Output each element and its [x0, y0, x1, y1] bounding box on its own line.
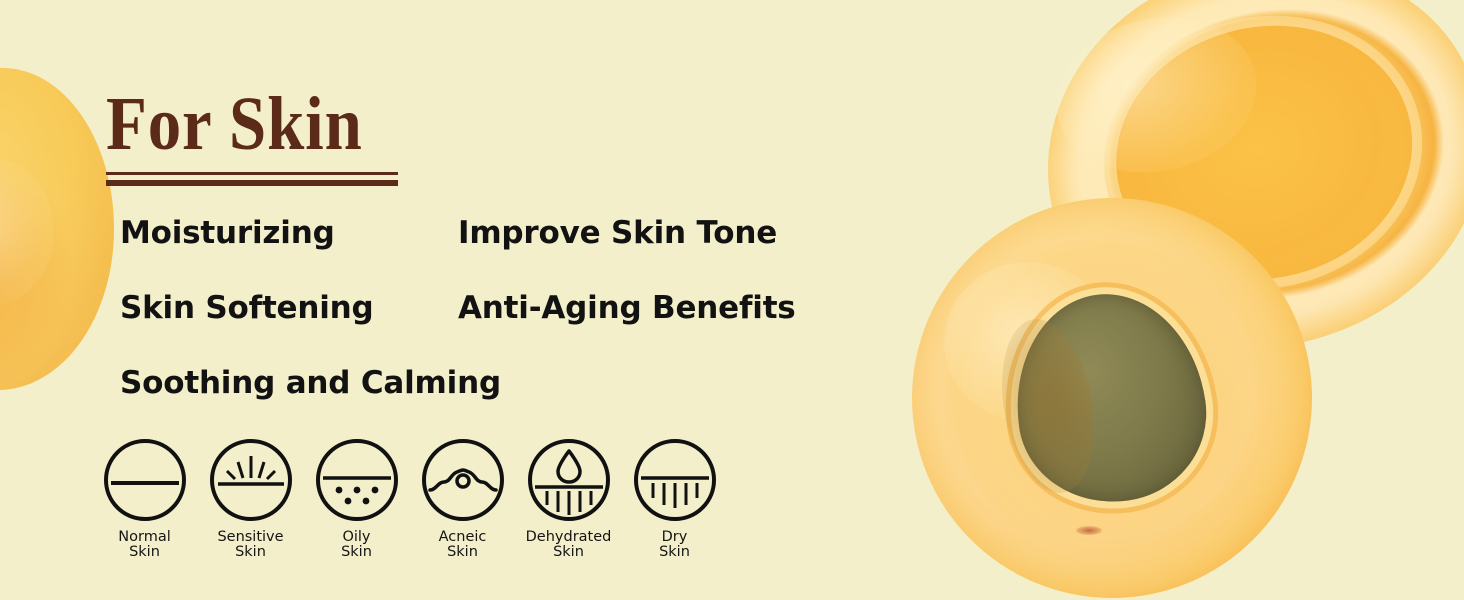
skin-type-normal: NormalSkin: [98, 438, 191, 560]
title-block: For Skin: [106, 86, 398, 186]
apricot-stem-mark: [1076, 526, 1102, 535]
benefit-row: Moisturizing Improve Skin Tone: [120, 215, 820, 290]
skin-type-label-line2: Skin: [447, 544, 478, 560]
title-underline: [106, 172, 398, 186]
benefit-row: Skin Softening Anti-Aging Benefits: [120, 290, 820, 365]
dry-skin-icon: [633, 438, 717, 522]
page-title: For Skin: [106, 86, 363, 162]
skin-type-label-line1: Acneic: [439, 529, 487, 545]
benefit-improve-skin-tone: Improve Skin Tone: [458, 215, 777, 251]
skin-type-label-line2: Skin: [129, 544, 160, 560]
skin-type-sensitive: SensitiveSkin: [204, 438, 297, 560]
benefit-soothing-and-calming: Soothing and Calming: [120, 365, 501, 401]
skin-type-label-line1: Sensitive: [217, 529, 283, 545]
title-underline-thick: [106, 180, 398, 186]
skin-type-acneic: AcneicSkin: [416, 438, 509, 560]
skin-type-label-line1: Normal: [118, 529, 170, 545]
apricot-flesh-highlight: [944, 262, 1112, 422]
skin-type-label-line2: Skin: [659, 544, 690, 560]
benefit-anti-aging-benefits: Anti-Aging Benefits: [458, 290, 796, 326]
benefit-skin-softening: Skin Softening: [120, 290, 458, 326]
title-underline-thin: [106, 172, 398, 175]
skin-type-oily: OilySkin: [310, 438, 403, 560]
skin-type-label: DrySkin: [659, 530, 690, 560]
skin-type-label-line2: Skin: [553, 544, 584, 560]
skin-type-label: DehydratedSkin: [526, 530, 612, 560]
for-skin-promo-banner: For Skin Moisturizing Improve Skin Tone …: [0, 0, 1464, 600]
skin-type-label: NormalSkin: [118, 530, 170, 560]
skin-type-list: NormalSkin SensitiveSkin: [98, 438, 721, 560]
acneic-skin-icon: [421, 438, 505, 522]
skin-type-label: OilySkin: [341, 530, 372, 560]
skin-type-label: AcneicSkin: [439, 530, 487, 560]
skin-type-label-line1: Oily: [342, 529, 370, 545]
skin-type-label: SensitiveSkin: [217, 530, 283, 560]
normal-skin-icon: [103, 438, 187, 522]
benefit-moisturizing: Moisturizing: [120, 215, 458, 251]
apricot-half-with-pit-icon: [912, 198, 1312, 598]
sensitive-skin-icon: [209, 438, 293, 522]
skin-type-label-line2: Skin: [235, 544, 266, 560]
skin-type-label-line1: Dehydrated: [526, 529, 612, 545]
banner-content: For Skin Moisturizing Improve Skin Tone …: [0, 0, 820, 600]
apricot-pit-shadow: [989, 312, 1106, 501]
skin-type-label-line1: Dry: [662, 529, 688, 545]
apricot-half-hollow-icon: [1009, 0, 1464, 390]
benefit-row: Soothing and Calming: [120, 365, 820, 440]
skin-type-dehydrated: DehydratedSkin: [522, 438, 615, 560]
apricot-pit-icon: [1002, 282, 1217, 514]
oily-skin-icon: [315, 438, 399, 522]
skin-type-label-line2: Skin: [341, 544, 372, 560]
benefits-list: Moisturizing Improve Skin Tone Skin Soft…: [120, 215, 820, 440]
skin-type-dry: DrySkin: [628, 438, 721, 560]
dehydrated-skin-icon: [527, 438, 611, 522]
